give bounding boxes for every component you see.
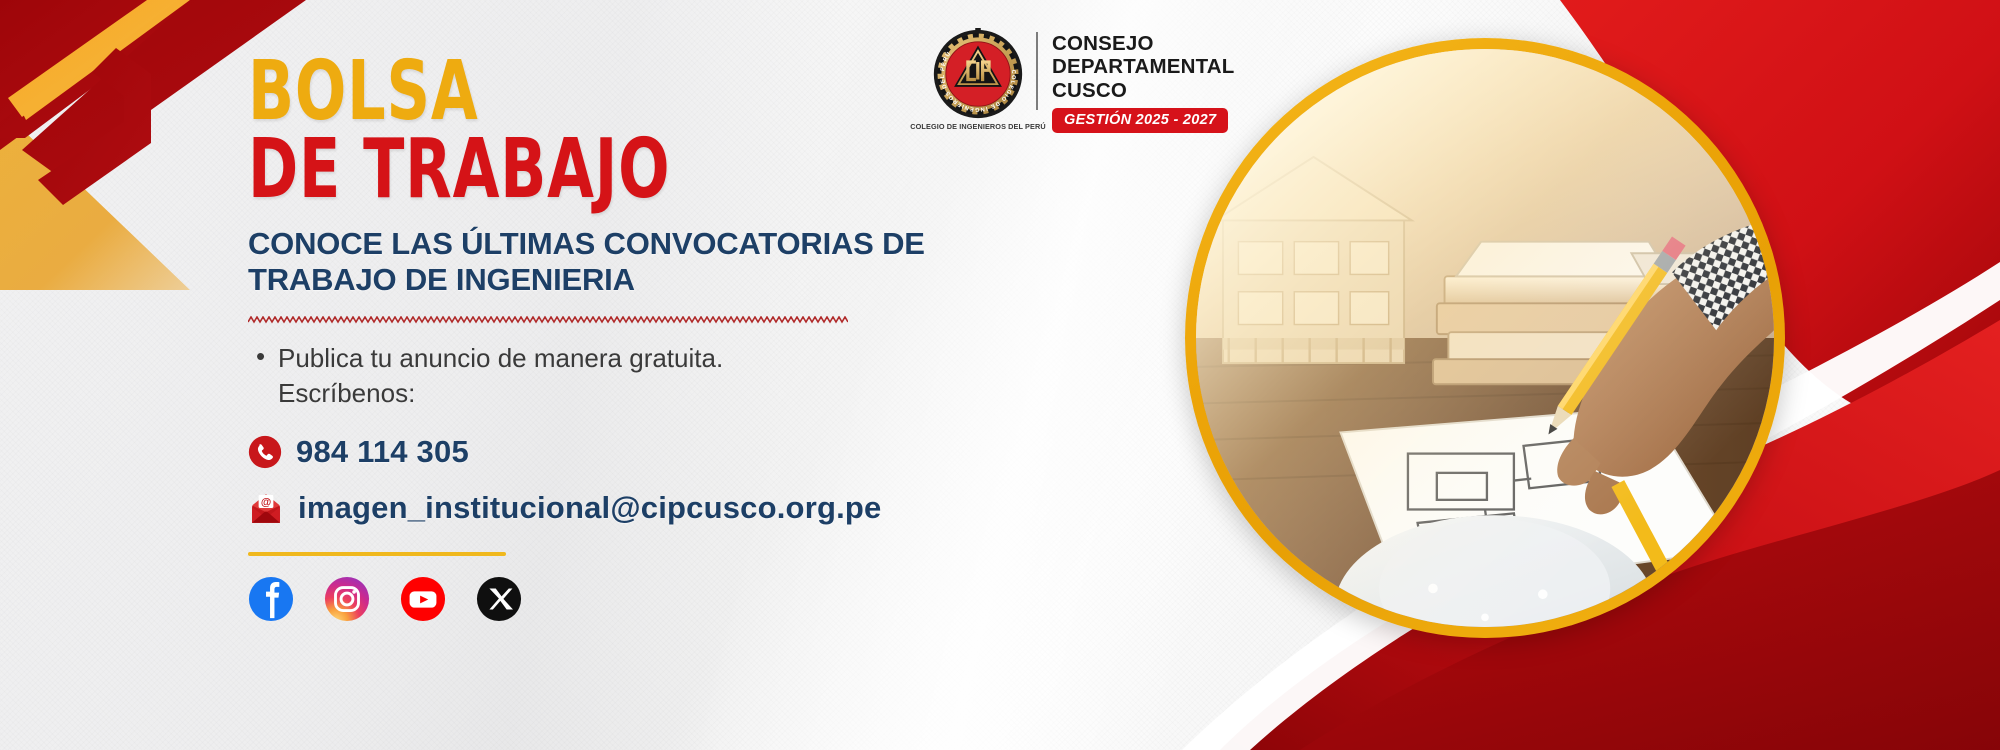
email-icon: @ xyxy=(248,490,284,526)
bullet-subtext-1: Escríbenos: xyxy=(248,376,1128,412)
zigzag-divider xyxy=(248,316,848,324)
phone-contact-row[interactable]: 984 114 305 xyxy=(248,434,1128,470)
council-line-3: CUSCO xyxy=(1052,79,1235,102)
phone-number: 984 114 305 xyxy=(296,434,469,470)
title-line-2: DE TRABAJO xyxy=(248,132,970,207)
cip-seal-caption: COLEGIO DE INGENIEROS DEL PERÚ xyxy=(910,122,1045,131)
instagram-icon[interactable] xyxy=(324,576,370,622)
council-line-2: DEPARTAMENTAL xyxy=(1052,55,1235,78)
facebook-icon[interactable] xyxy=(248,576,294,622)
engineer-photo-circle xyxy=(1185,38,1785,638)
bullet-text-1: Publica tu anuncio de manera gratuita. xyxy=(278,343,723,373)
svg-text:@: @ xyxy=(261,497,271,509)
gestion-badge: GESTIÓN 2025 - 2027 xyxy=(1052,108,1228,133)
bolsa-de-trabajo-banner: COLEGIO DE INGENIEROS DEL PERÚ · 1962 · xyxy=(0,0,2000,750)
cip-seal-mark: COLEGIO DE INGENIEROS DEL PERÚ · 1962 · xyxy=(928,28,1028,131)
gold-rule-divider xyxy=(248,552,506,556)
list-item: Publica tu anuncio de manera gratuita. xyxy=(248,341,1128,377)
council-line-1: CONSEJO xyxy=(1052,32,1235,55)
phone-icon xyxy=(248,435,282,469)
logo-divider xyxy=(1036,32,1038,110)
social-links xyxy=(248,576,1128,622)
cip-logo-block: COLEGIO DE INGENIEROS DEL PERÚ · 1962 · xyxy=(928,28,1235,133)
cip-seal-icon: COLEGIO DE INGENIEROS DEL PERÚ · 1962 · xyxy=(932,28,1024,120)
benefits-list: Publica tu anuncio de manera gratuita. E… xyxy=(248,341,1128,413)
subheadline: CONOCE LAS ÚLTIMAS CONVOCATORIAS DE TRAB… xyxy=(248,226,928,298)
email-contact-row[interactable]: @ imagen_institucional@cipcusco.org.pe xyxy=(248,490,1128,526)
title-line-1: BOLSA xyxy=(248,56,970,128)
x-twitter-icon[interactable] xyxy=(476,576,522,622)
email-address: imagen_institucional@cipcusco.org.pe xyxy=(298,490,882,526)
engineer-photo xyxy=(1196,49,1774,627)
banner-content: BOLSA DE TRABAJO CONOCE LAS ÚLTIMAS CONV… xyxy=(248,56,1128,622)
youtube-icon[interactable] xyxy=(400,576,446,622)
council-name-block: CONSEJO DEPARTAMENTAL CUSCO GESTIÓN 2025… xyxy=(1052,28,1235,133)
